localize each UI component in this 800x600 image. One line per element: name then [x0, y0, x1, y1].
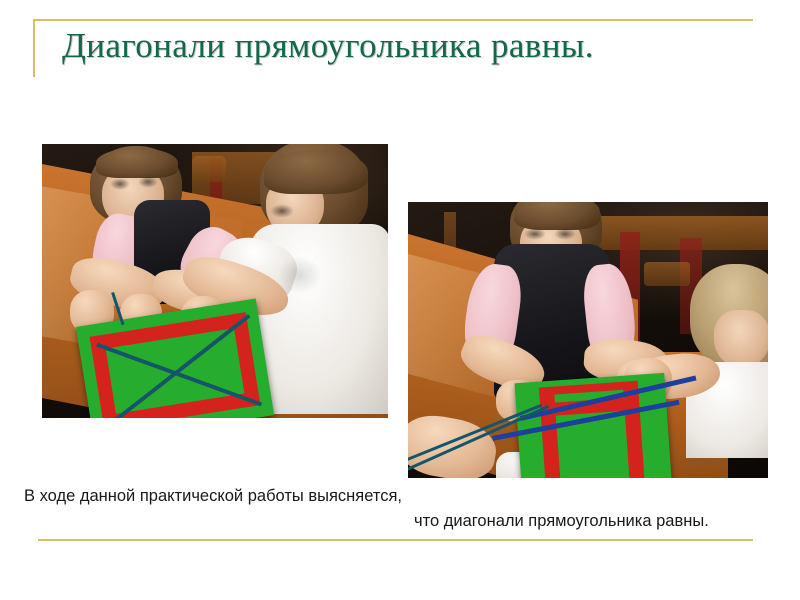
right-girl-shirt-print	[278, 256, 322, 294]
body-text-line-1: В ходе данной практической работы выясня…	[24, 486, 402, 507]
photo-right	[408, 202, 768, 478]
right-girl-eye	[270, 204, 294, 218]
slide-title: Диагонали прямоугольника равны.	[62, 24, 762, 68]
background-chair-back	[192, 156, 226, 182]
center-girl-fringe	[514, 202, 600, 230]
photo-left-scene	[42, 144, 388, 418]
slide: Диагонали прямоугольника равны.	[0, 0, 800, 600]
left-girl-eye-right	[138, 176, 158, 188]
title-rule-top	[33, 19, 753, 21]
center-girl-eye-left	[524, 228, 546, 240]
title-rule-left	[33, 19, 35, 77]
right-girl-fringe	[264, 150, 368, 194]
right-child-face	[714, 310, 768, 368]
left-girl-fringe	[96, 148, 178, 178]
center-girl-eye-right	[554, 228, 576, 240]
background-chair-seat	[644, 262, 690, 286]
body-text-line-2: что диагонали прямоугольника равны.	[414, 511, 709, 532]
photo-right-scene	[408, 202, 768, 478]
photo-left	[42, 144, 388, 418]
left-girl-eye-left	[110, 178, 130, 190]
bottom-rule	[38, 539, 753, 541]
